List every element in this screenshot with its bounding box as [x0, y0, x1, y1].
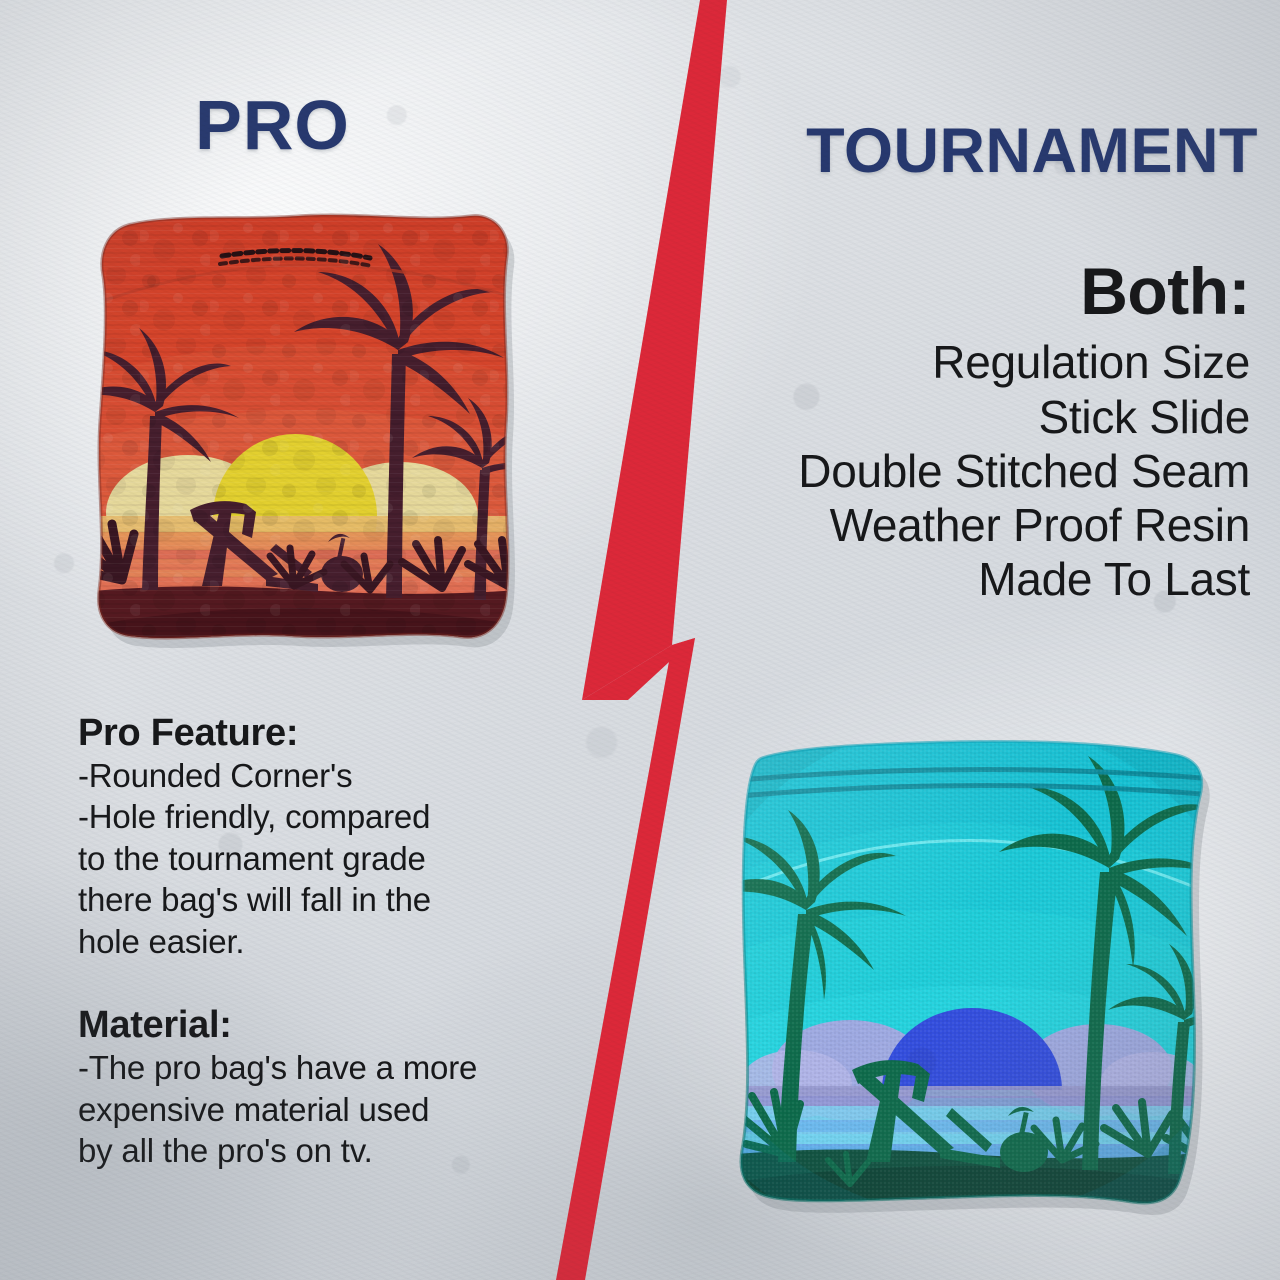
material-line: by all the pro's on tv.: [78, 1130, 498, 1172]
both-feature-item: Stick Slide: [630, 390, 1250, 444]
pro-feature-line: there bag's will fall in the: [78, 879, 498, 921]
pro-heading: PRO: [0, 90, 545, 160]
material-line: expensive material used: [78, 1089, 498, 1131]
both-features-block: Both: Regulation Size Stick Slide Double…: [630, 258, 1250, 607]
tournament-bag-image: [700, 718, 1240, 1238]
pro-feature-line: hole easier.: [78, 921, 498, 963]
pro-feature-line: -Rounded Corner's: [78, 755, 498, 797]
infographic-canvas: PRO TOURNAMENT Both: Regulation Size Sti…: [0, 0, 1280, 1280]
both-features-list: Regulation Size Stick Slide Double Stitc…: [630, 335, 1250, 606]
both-feature-item: Made To Last: [630, 552, 1250, 606]
pro-feature-line: to the tournament grade: [78, 838, 498, 880]
both-feature-item: Weather Proof Resin: [630, 498, 1250, 552]
material-title: Material:: [78, 1004, 498, 1047]
both-feature-item: Regulation Size: [630, 335, 1250, 389]
pro-feature-title: Pro Feature:: [78, 712, 498, 755]
pro-feature-line: -Hole friendly, compared: [78, 796, 498, 838]
pro-description-block: Pro Feature: -Rounded Corner's -Hole fri…: [78, 712, 498, 1172]
tournament-heading: TOURNAMENT: [538, 120, 1258, 183]
material-line: -The pro bag's have a more: [78, 1047, 498, 1089]
material-block: Material: -The pro bag's have a more exp…: [78, 1004, 498, 1171]
both-title: Both:: [630, 258, 1250, 325]
both-feature-item: Double Stitched Seam: [630, 444, 1250, 498]
pro-bag-image: [70, 198, 540, 678]
